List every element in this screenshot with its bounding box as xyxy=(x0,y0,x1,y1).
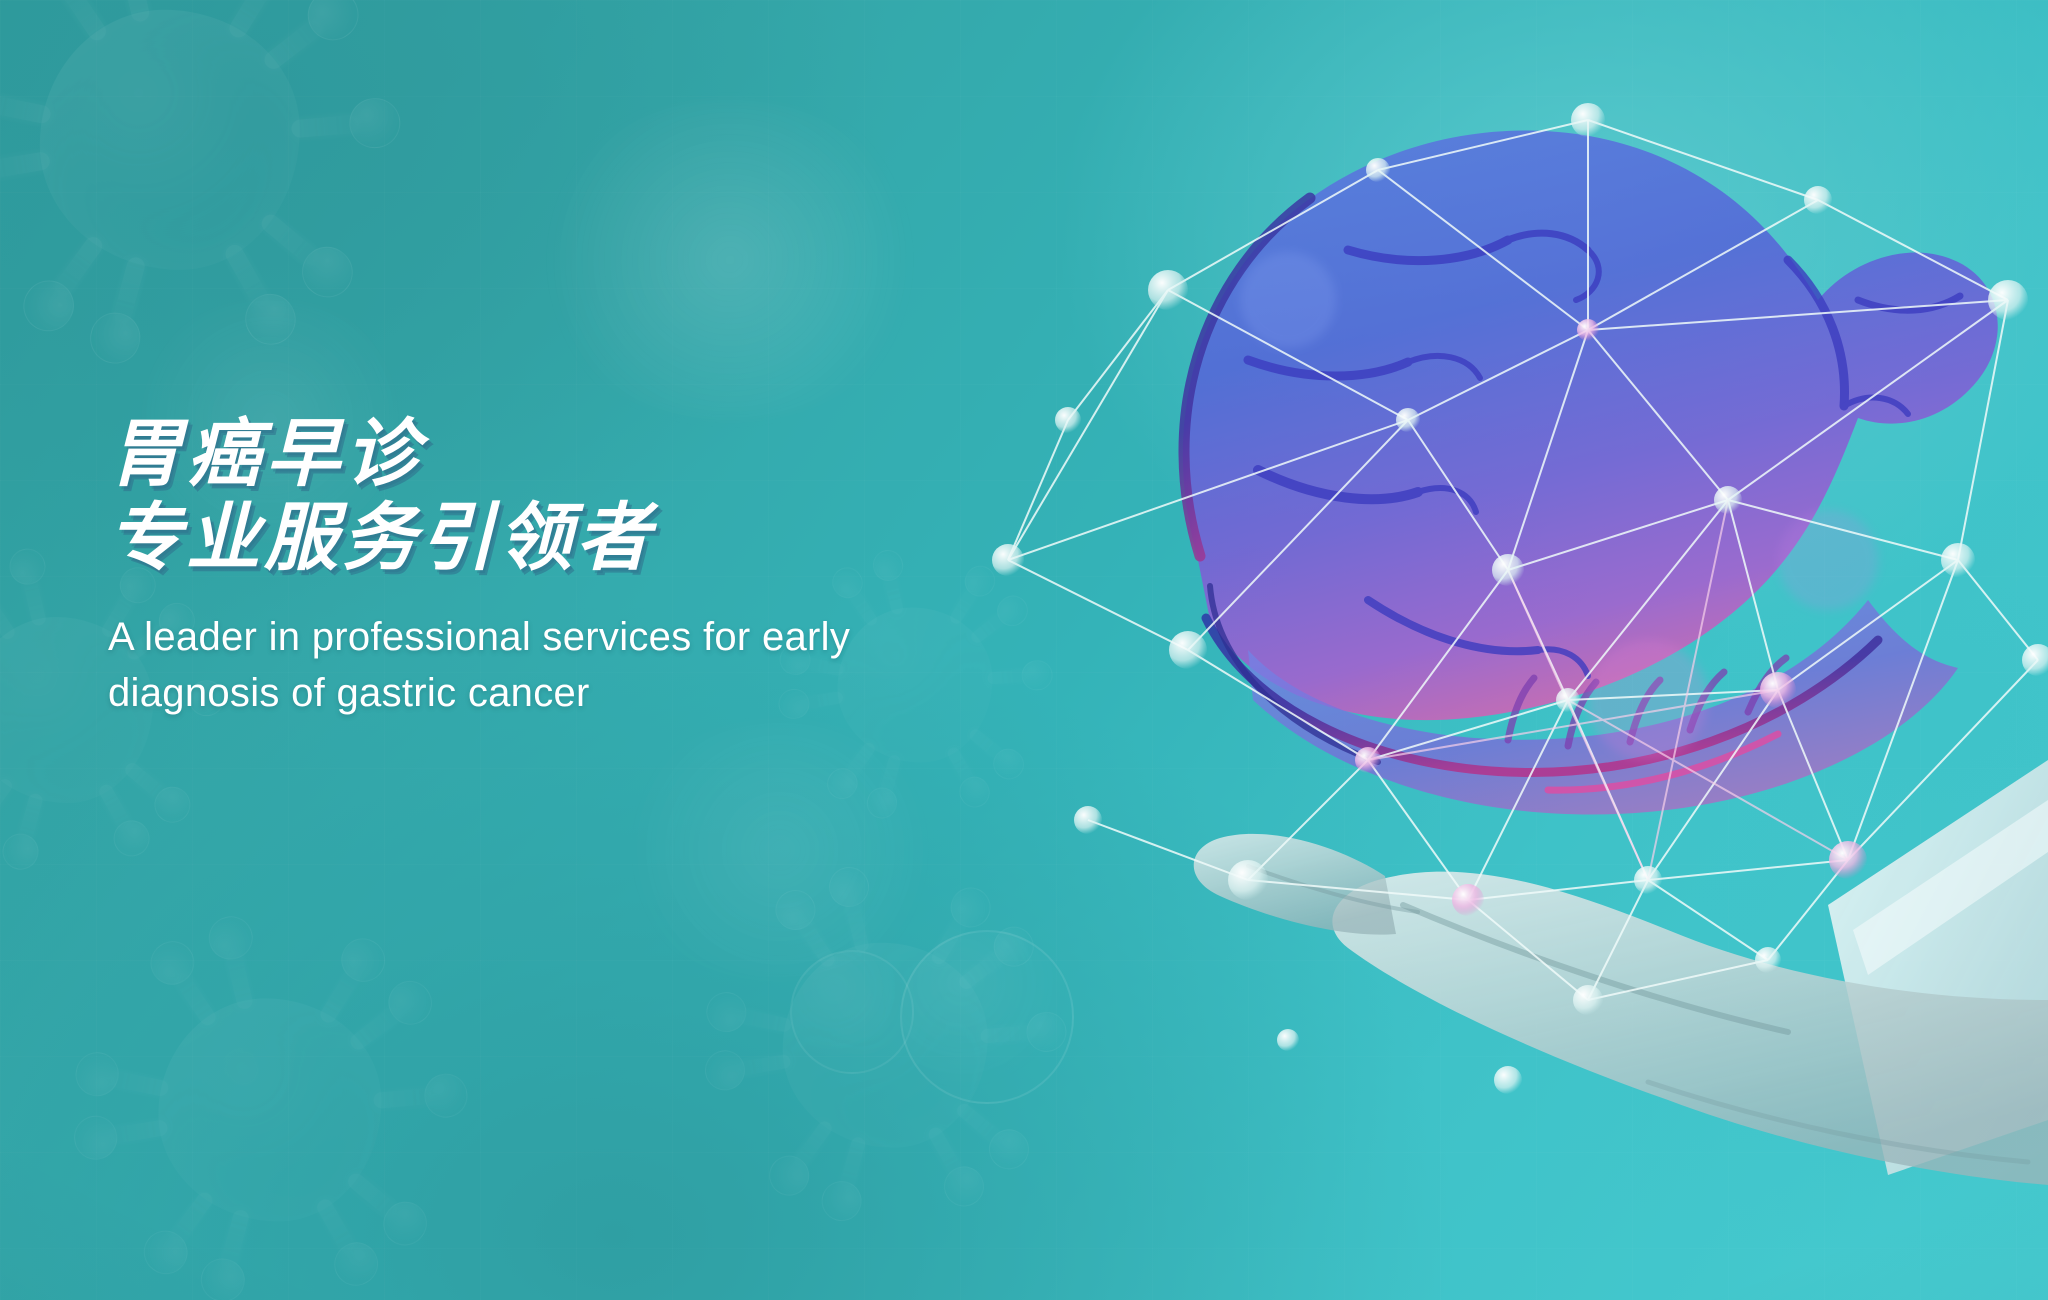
headline-line-2: 专业服务引领者 xyxy=(108,496,1108,580)
banner-root: 胃癌早诊 专业服务引领者 A leader in professional se… xyxy=(0,0,2048,1300)
subtitle-line-2: diagnosis of gastric cancer xyxy=(108,665,1108,721)
hero-copy-block: 胃癌早诊 专业服务引领者 A leader in professional se… xyxy=(108,412,1108,721)
headline-line-1: 胃癌早诊 xyxy=(108,412,1108,496)
subtitle: A leader in professional services for ea… xyxy=(108,609,1108,721)
headline: 胃癌早诊 专业服务引领者 xyxy=(108,412,1108,579)
subtitle-line-1: A leader in professional services for ea… xyxy=(108,609,1108,665)
